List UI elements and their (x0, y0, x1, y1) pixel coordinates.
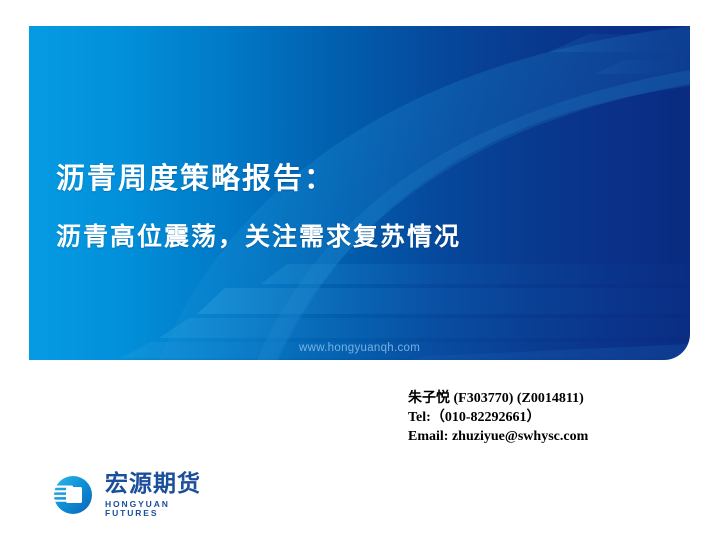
page-title: 沥青周度策略报告： (56, 160, 461, 196)
analyst-name-and-license: 朱子悦 (F303770) (Z0014811) (408, 389, 588, 408)
page-subtitle: 沥青高位震荡，关注需求复苏情况 (56, 221, 461, 252)
logo-text-block: 宏源期货 HONGYUAN FUTURES (105, 473, 227, 517)
contact-email: Email: zhuziyue@swhysc.com (408, 427, 588, 446)
contact-telephone: Tel:（010-82292661） (408, 408, 588, 427)
contact-block: 朱子悦 (F303770) (Z0014811) Tel:（010-822926… (408, 389, 588, 446)
slide-canvas: 沥青周度策略报告： 沥青高位震荡，关注需求复苏情况 www.hongyuanqh… (0, 0, 720, 540)
title-block: 沥青周度策略报告： 沥青高位震荡，关注需求复苏情况 (56, 160, 461, 253)
hongyuan-circle-emblem-icon (47, 472, 99, 518)
company-logo: 宏源期货 HONGYUAN FUTURES (47, 470, 227, 520)
website-watermark: www.hongyuanqh.com (299, 342, 420, 354)
logo-name-english: HONGYUAN FUTURES (105, 500, 227, 517)
logo-name-chinese: 宏源期货 (105, 473, 227, 496)
